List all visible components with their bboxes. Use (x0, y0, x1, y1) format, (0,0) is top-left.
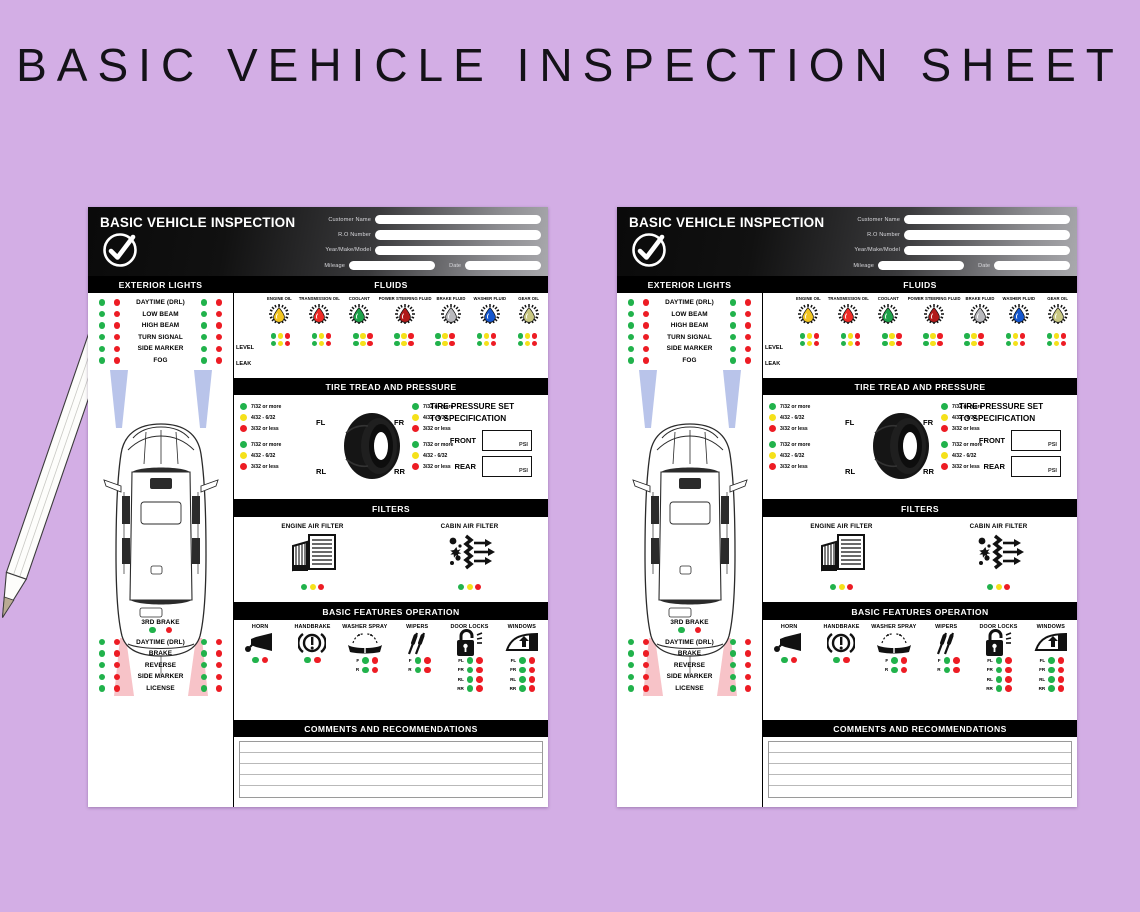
green-dot[interactable] (99, 322, 105, 328)
green-dot[interactable] (201, 650, 207, 656)
green-dot[interactable] (467, 667, 474, 674)
red-dot[interactable] (240, 425, 247, 432)
green-dot[interactable] (769, 403, 776, 410)
red-dot[interactable] (1004, 584, 1010, 590)
red-dot[interactable] (643, 357, 649, 363)
filter-rating[interactable] (391, 584, 548, 590)
green-dot[interactable] (99, 357, 105, 363)
green-dot[interactable] (99, 674, 105, 680)
yellow-dot[interactable] (930, 341, 935, 346)
red-dot[interactable] (532, 333, 537, 338)
light-status-left[interactable] (625, 662, 653, 668)
red-dot[interactable] (216, 357, 222, 363)
green-dot[interactable] (435, 333, 440, 338)
red-dot[interactable] (745, 650, 751, 656)
green-dot[interactable] (519, 657, 526, 664)
red-dot[interactable] (216, 311, 222, 317)
light-status-left[interactable] (625, 299, 653, 305)
tread-option[interactable]: 4/32 - 6/32 (240, 412, 312, 423)
red-dot[interactable] (114, 674, 120, 680)
light-status-right[interactable] (198, 357, 226, 363)
feature-status[interactable] (234, 657, 286, 664)
light-status-right[interactable] (727, 662, 755, 668)
red-dot[interactable] (408, 341, 413, 346)
fluid-rating[interactable] (507, 341, 548, 346)
green-dot[interactable] (800, 333, 805, 338)
green-dot[interactable] (477, 341, 482, 346)
yellow-dot[interactable] (971, 341, 976, 346)
yellow-dot[interactable] (1054, 341, 1059, 346)
green-dot[interactable] (312, 333, 317, 338)
customer-name-input[interactable] (904, 215, 1070, 225)
light-status-left[interactable] (625, 650, 653, 656)
red-dot[interactable] (1020, 341, 1025, 346)
green-dot[interactable] (1048, 676, 1055, 683)
comment-line[interactable] (240, 786, 542, 797)
light-status-right[interactable] (198, 685, 226, 691)
yellow-dot[interactable] (442, 341, 447, 346)
red-dot[interactable] (843, 657, 850, 664)
red-dot[interactable] (953, 667, 960, 674)
green-dot[interactable] (240, 403, 247, 410)
red-dot[interactable] (978, 341, 983, 346)
ro-number-input[interactable] (904, 230, 1070, 240)
green-dot[interactable] (730, 322, 736, 328)
green-dot[interactable] (996, 667, 1003, 674)
light-status-left[interactable] (96, 322, 124, 328)
red-dot[interactable] (240, 463, 247, 470)
green-dot[interactable] (412, 441, 419, 448)
green-dot[interactable] (201, 357, 207, 363)
red-dot[interactable] (1058, 685, 1065, 692)
red-dot[interactable] (114, 299, 120, 305)
light-status-right[interactable] (727, 346, 755, 352)
red-dot[interactable] (529, 685, 536, 692)
yellow-dot[interactable] (412, 414, 419, 421)
light-status-right[interactable] (727, 322, 755, 328)
yellow-dot[interactable] (971, 333, 976, 338)
tread-option[interactable]: 7/32 or more (240, 401, 312, 412)
tread-option[interactable]: 4/32 - 6/32 (769, 412, 841, 423)
green-dot[interactable] (467, 657, 474, 664)
comment-line[interactable] (769, 775, 1071, 786)
red-dot[interactable] (491, 333, 496, 338)
yellow-dot[interactable] (278, 333, 283, 338)
fluid-rating[interactable] (425, 341, 466, 346)
green-dot[interactable] (944, 667, 951, 674)
comment-line[interactable] (769, 764, 1071, 775)
filter-rating[interactable] (763, 584, 920, 590)
red-dot[interactable] (412, 463, 419, 470)
green-dot[interactable] (628, 346, 634, 352)
green-dot[interactable] (362, 667, 369, 674)
green-dot[interactable] (987, 584, 993, 590)
yellow-dot[interactable] (525, 333, 530, 338)
fluid-rating[interactable] (507, 333, 548, 338)
green-dot[interactable] (99, 311, 105, 317)
light-status-right[interactable] (727, 650, 755, 656)
green-dot[interactable] (99, 662, 105, 668)
green-dot[interactable] (628, 650, 634, 656)
red-dot[interactable] (216, 299, 222, 305)
red-dot[interactable] (326, 333, 331, 338)
fluid-rating[interactable] (260, 341, 301, 346)
red-dot[interactable] (1058, 657, 1065, 664)
green-dot[interactable] (415, 667, 422, 674)
fluid-rating[interactable] (260, 333, 301, 338)
green-dot[interactable] (833, 657, 840, 664)
red-dot[interactable] (216, 639, 222, 645)
green-dot[interactable] (628, 311, 634, 317)
red-dot[interactable] (745, 639, 751, 645)
red-dot[interactable] (643, 322, 649, 328)
fluid-rating[interactable] (912, 333, 953, 338)
filter-rating[interactable] (920, 584, 1077, 590)
tread-option[interactable]: 3/32 or less (240, 461, 312, 472)
light-status-right[interactable] (198, 674, 226, 680)
green-dot[interactable] (99, 334, 105, 340)
light-status-left[interactable] (625, 639, 653, 645)
green-dot[interactable] (996, 657, 1003, 664)
green-dot[interactable] (730, 685, 736, 691)
yellow-dot[interactable] (319, 333, 324, 338)
red-dot[interactable] (643, 639, 649, 645)
red-dot[interactable] (941, 425, 948, 432)
green-dot[interactable] (628, 322, 634, 328)
green-dot[interactable] (201, 639, 207, 645)
comments-box[interactable] (239, 741, 543, 798)
green-dot[interactable] (628, 299, 634, 305)
fluid-rating[interactable] (995, 341, 1036, 346)
red-dot[interactable] (745, 674, 751, 680)
yellow-dot[interactable] (319, 341, 324, 346)
red-dot[interactable] (326, 341, 331, 346)
yellow-dot[interactable] (1054, 333, 1059, 338)
green-dot[interactable] (891, 657, 898, 664)
green-dot[interactable] (678, 627, 684, 633)
red-dot[interactable] (1058, 676, 1065, 683)
yellow-dot[interactable] (240, 452, 247, 459)
light-status-left[interactable] (625, 346, 653, 352)
red-dot[interactable] (424, 657, 431, 664)
yellow-dot[interactable] (442, 333, 447, 338)
yellow-dot[interactable] (848, 333, 853, 338)
light-status-left[interactable] (625, 322, 653, 328)
red-dot[interactable] (855, 341, 860, 346)
green-dot[interactable] (964, 341, 969, 346)
red-dot[interactable] (314, 657, 321, 664)
red-dot[interactable] (449, 333, 454, 338)
comment-line[interactable] (240, 742, 542, 753)
red-dot[interactable] (449, 341, 454, 346)
fluid-rating[interactable] (871, 333, 912, 338)
fluid-rating[interactable] (342, 333, 383, 338)
red-dot[interactable] (643, 346, 649, 352)
red-dot[interactable] (745, 662, 751, 668)
green-dot[interactable] (891, 667, 898, 674)
light-status-left[interactable] (625, 685, 653, 691)
fluid-rating[interactable] (830, 341, 871, 346)
green-dot[interactable] (882, 341, 887, 346)
red-dot[interactable] (643, 662, 649, 668)
green-dot[interactable] (923, 341, 928, 346)
red-dot[interactable] (529, 657, 536, 664)
red-dot[interactable] (114, 322, 120, 328)
red-dot[interactable] (745, 322, 751, 328)
green-dot[interactable] (518, 333, 523, 338)
fluid-rating[interactable] (1036, 341, 1077, 346)
green-dot[interactable] (628, 662, 634, 668)
red-dot[interactable] (424, 667, 431, 674)
red-dot[interactable] (937, 341, 942, 346)
yellow-dot[interactable] (848, 341, 853, 346)
red-dot[interactable] (814, 333, 819, 338)
light-status-left[interactable] (625, 334, 653, 340)
red-dot[interactable] (412, 425, 419, 432)
green-dot[interactable] (518, 341, 523, 346)
green-dot[interactable] (271, 333, 276, 338)
fluid-rating[interactable] (383, 341, 424, 346)
red-dot[interactable] (901, 667, 908, 674)
red-dot[interactable] (896, 333, 901, 338)
green-dot[interactable] (964, 333, 969, 338)
yellow-dot[interactable] (941, 414, 948, 421)
red-dot[interactable] (643, 334, 649, 340)
green-dot[interactable] (519, 685, 526, 692)
red-dot[interactable] (114, 334, 120, 340)
green-dot[interactable] (394, 333, 399, 338)
green-dot[interactable] (1006, 341, 1011, 346)
green-dot[interactable] (149, 627, 155, 633)
green-dot[interactable] (99, 650, 105, 656)
green-dot[interactable] (394, 341, 399, 346)
fluid-rating[interactable] (301, 333, 342, 338)
yellow-dot[interactable] (1013, 341, 1018, 346)
light-status-right[interactable] (198, 334, 226, 340)
fluid-rating[interactable] (301, 341, 342, 346)
red-dot[interactable] (643, 311, 649, 317)
date-input[interactable] (994, 261, 1070, 271)
fluid-rating[interactable] (995, 333, 1036, 338)
green-dot[interactable] (628, 357, 634, 363)
yellow-dot[interactable] (996, 584, 1002, 590)
red-dot[interactable] (114, 650, 120, 656)
mileage-input[interactable] (878, 261, 964, 271)
red-dot[interactable] (791, 657, 798, 664)
green-dot[interactable] (99, 299, 105, 305)
green-dot[interactable] (519, 667, 526, 674)
red-dot[interactable] (114, 685, 120, 691)
red-dot[interactable] (1020, 333, 1025, 338)
green-dot[interactable] (99, 346, 105, 352)
comment-line[interactable] (769, 742, 1071, 753)
fluid-rating[interactable] (466, 341, 507, 346)
fluid-rating[interactable] (871, 341, 912, 346)
red-dot[interactable] (855, 333, 860, 338)
red-dot[interactable] (372, 657, 379, 664)
red-dot[interactable] (643, 299, 649, 305)
red-dot[interactable] (532, 341, 537, 346)
yellow-dot[interactable] (807, 333, 812, 338)
light-status-right[interactable] (198, 322, 226, 328)
red-dot[interactable] (745, 685, 751, 691)
light-status-right[interactable] (198, 346, 226, 352)
fluid-rating[interactable] (466, 333, 507, 338)
red-dot[interactable] (1005, 685, 1012, 692)
green-dot[interactable] (353, 333, 358, 338)
red-dot[interactable] (937, 333, 942, 338)
light-status-right[interactable] (727, 311, 755, 317)
light-status-left[interactable] (96, 346, 124, 352)
light-status-left[interactable] (96, 662, 124, 668)
green-dot[interactable] (996, 685, 1003, 692)
year-make-model-input[interactable] (904, 246, 1070, 256)
fluid-rating[interactable] (789, 333, 830, 338)
yellow-dot[interactable] (401, 341, 406, 346)
tread-option[interactable]: 4/32 - 6/32 (240, 450, 312, 461)
light-status-left[interactable] (625, 311, 653, 317)
light-status-right[interactable] (727, 639, 755, 645)
red-dot[interactable] (166, 627, 172, 633)
green-dot[interactable] (99, 685, 105, 691)
red-dot[interactable] (769, 425, 776, 432)
fluid-rating[interactable] (912, 341, 953, 346)
green-dot[interactable] (458, 584, 464, 590)
green-dot[interactable] (201, 299, 207, 305)
red-dot[interactable] (529, 667, 536, 674)
green-dot[interactable] (201, 311, 207, 317)
light-status-right[interactable] (198, 650, 226, 656)
yellow-dot[interactable] (360, 341, 365, 346)
red-dot[interactable] (216, 650, 222, 656)
red-dot[interactable] (643, 685, 649, 691)
light-status-left[interactable] (96, 639, 124, 645)
red-dot[interactable] (769, 463, 776, 470)
red-dot[interactable] (114, 311, 120, 317)
yellow-dot[interactable] (484, 333, 489, 338)
red-dot[interactable] (216, 685, 222, 691)
yellow-dot[interactable] (807, 341, 812, 346)
comment-line[interactable] (240, 775, 542, 786)
customer-name-input[interactable] (375, 215, 541, 225)
fluid-rating[interactable] (830, 333, 871, 338)
red-dot[interactable] (476, 667, 483, 674)
red-dot[interactable] (695, 627, 701, 633)
red-dot[interactable] (285, 333, 290, 338)
yellow-dot[interactable] (412, 452, 419, 459)
tread-option[interactable]: 7/32 or more (769, 439, 841, 450)
red-dot[interactable] (114, 639, 120, 645)
red-dot[interactable] (476, 676, 483, 683)
fluid-rating[interactable] (1036, 333, 1077, 338)
yellow-dot[interactable] (401, 333, 406, 338)
green-dot[interactable] (841, 341, 846, 346)
fluid-rating[interactable] (789, 341, 830, 346)
red-dot[interactable] (285, 341, 290, 346)
red-dot[interactable] (475, 584, 481, 590)
light-status-left[interactable] (96, 334, 124, 340)
red-dot[interactable] (1005, 657, 1012, 664)
light-status-right[interactable] (198, 639, 226, 645)
red-dot[interactable] (114, 662, 120, 668)
red-dot[interactable] (476, 685, 483, 692)
light-status-left[interactable] (96, 311, 124, 317)
green-dot[interactable] (240, 441, 247, 448)
green-dot[interactable] (730, 311, 736, 317)
red-dot[interactable] (408, 333, 413, 338)
yellow-dot[interactable] (930, 333, 935, 338)
green-dot[interactable] (362, 657, 369, 664)
green-dot[interactable] (1047, 341, 1052, 346)
red-dot[interactable] (745, 346, 751, 352)
red-dot[interactable] (1061, 333, 1066, 338)
fluid-rating[interactable] (342, 341, 383, 346)
ro-number-input[interactable] (375, 230, 541, 240)
green-dot[interactable] (882, 333, 887, 338)
green-dot[interactable] (519, 676, 526, 683)
green-dot[interactable] (941, 441, 948, 448)
green-dot[interactable] (353, 341, 358, 346)
yellow-dot[interactable] (310, 584, 316, 590)
yellow-dot[interactable] (839, 584, 845, 590)
green-dot[interactable] (800, 341, 805, 346)
red-dot[interactable] (745, 311, 751, 317)
red-dot[interactable] (1005, 676, 1012, 683)
third-brake-status[interactable] (88, 627, 233, 633)
green-dot[interactable] (1048, 667, 1055, 674)
green-dot[interactable] (1006, 333, 1011, 338)
red-dot[interactable] (1058, 667, 1065, 674)
red-dot[interactable] (901, 657, 908, 664)
red-dot[interactable] (953, 657, 960, 664)
green-dot[interactable] (628, 639, 634, 645)
green-dot[interactable] (1047, 333, 1052, 338)
green-dot[interactable] (730, 299, 736, 305)
red-dot[interactable] (941, 463, 948, 470)
green-dot[interactable] (730, 639, 736, 645)
red-dot[interactable] (643, 650, 649, 656)
green-dot[interactable] (941, 403, 948, 410)
green-dot[interactable] (201, 322, 207, 328)
light-status-right[interactable] (727, 685, 755, 691)
yellow-dot[interactable] (889, 341, 894, 346)
green-dot[interactable] (271, 341, 276, 346)
light-status-left[interactable] (625, 357, 653, 363)
green-dot[interactable] (1048, 685, 1055, 692)
green-dot[interactable] (730, 650, 736, 656)
light-status-right[interactable] (198, 662, 226, 668)
fluid-rating[interactable] (425, 333, 466, 338)
green-dot[interactable] (628, 334, 634, 340)
yellow-dot[interactable] (278, 341, 283, 346)
red-dot[interactable] (367, 341, 372, 346)
light-status-right[interactable] (198, 311, 226, 317)
red-dot[interactable] (114, 346, 120, 352)
green-dot[interactable] (99, 639, 105, 645)
green-dot[interactable] (1048, 657, 1055, 664)
red-dot[interactable] (262, 657, 269, 664)
green-dot[interactable] (477, 333, 482, 338)
green-dot[interactable] (769, 441, 776, 448)
front-psi-input[interactable]: PSI (482, 430, 532, 451)
light-status-right[interactable] (727, 299, 755, 305)
comment-line[interactable] (769, 753, 1071, 764)
feature-status[interactable] (815, 657, 867, 664)
green-dot[interactable] (301, 584, 307, 590)
light-status-left[interactable] (96, 650, 124, 656)
rear-psi-input[interactable]: PSI (482, 456, 532, 477)
red-dot[interactable] (367, 333, 372, 338)
